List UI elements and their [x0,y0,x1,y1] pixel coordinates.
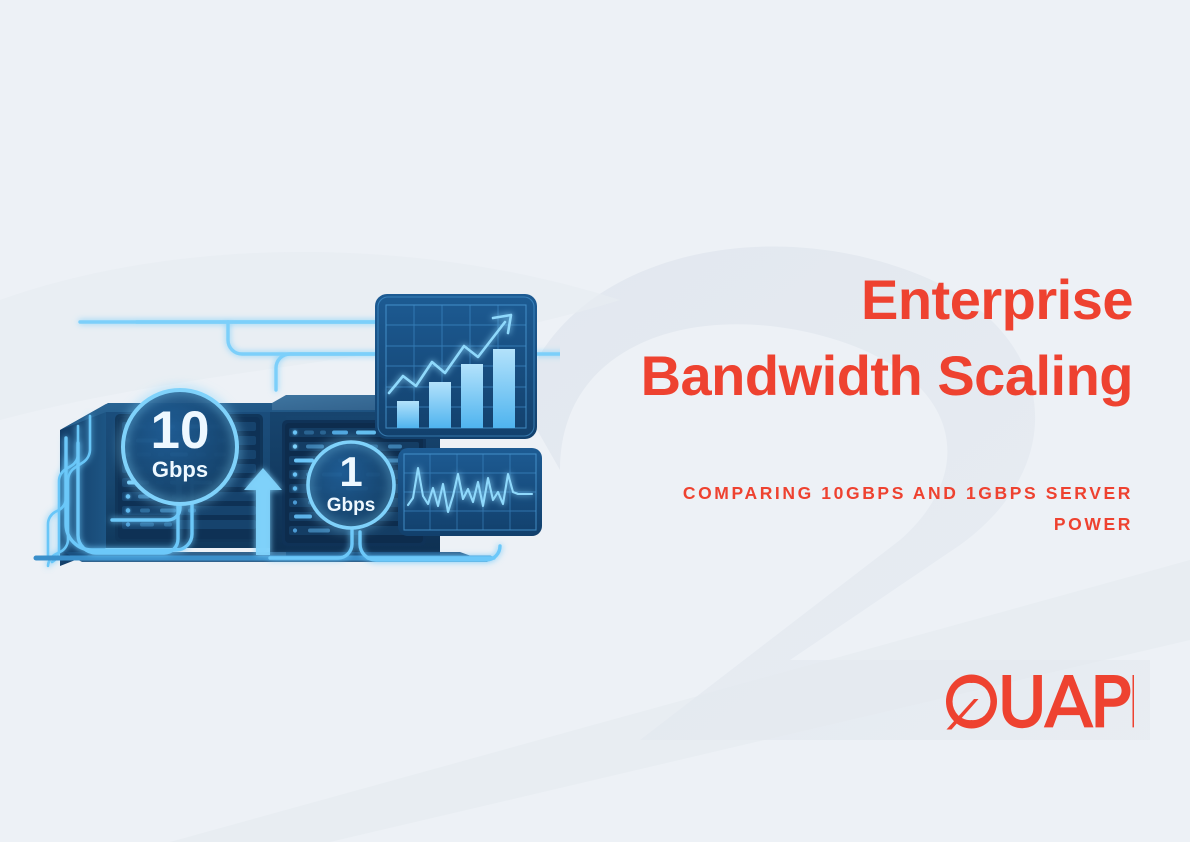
server-rack-illustration: 10 Gbps 1 Gbps [20,230,560,580]
badge-1gbps-value: 1 [339,448,362,495]
text-content: Enterprise Bandwidth Scaling Comparing 1… [600,262,1133,540]
logo-q-mark [946,675,997,730]
page-subtitle: Comparing 10Gbps and 1Gbps Server Power [600,478,1133,539]
logo-letter-e [1133,675,1135,727]
badge-10gbps-value: 10 [151,401,210,460]
waveform-panel [398,448,542,536]
logo-letter-u [1003,675,1042,728]
quape-logo[interactable]: QUAPE [944,672,1134,730]
logo-letter-p [1096,675,1131,727]
badge-1gbps: 1 Gbps [308,442,394,528]
badge-10gbps-unit: Gbps [152,457,208,482]
page-title: Enterprise Bandwidth Scaling [600,262,1133,414]
badge-10gbps: 10 Gbps [123,390,237,504]
growth-chart-panel [375,294,537,439]
poster-canvas: 10 Gbps 1 Gbps [0,0,1190,842]
badge-1gbps-unit: Gbps [327,495,376,516]
logo-letter-a [1044,675,1094,727]
